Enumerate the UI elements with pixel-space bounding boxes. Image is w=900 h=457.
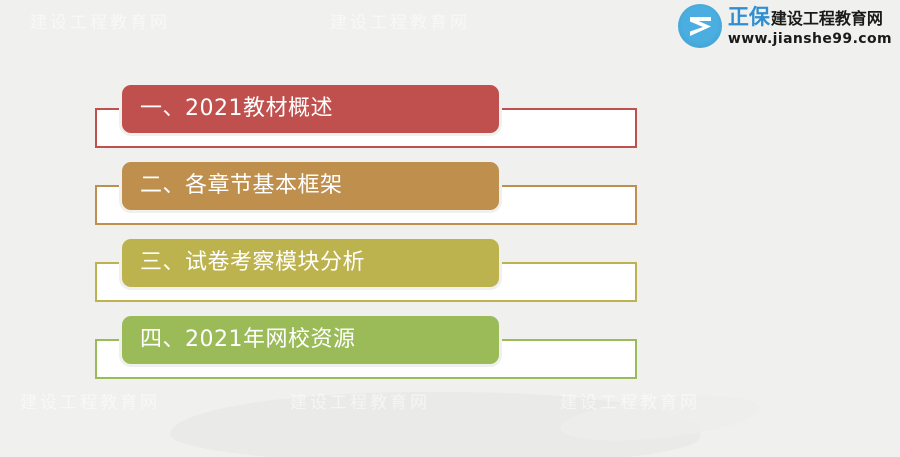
- slide-canvas: 建设工程教育网 建设工程教育网 建设工程教育网 建设工程教育网 建设工程教育网 …: [0, 0, 900, 457]
- agenda-fill-bar[interactable]: 四、2021年网校资源: [122, 316, 499, 364]
- agenda-item-label: 四、2021年网校资源: [122, 329, 356, 351]
- agenda-fill-bar[interactable]: 三、试卷考察模块分析: [122, 239, 499, 287]
- agenda-item[interactable]: 四、2021年网校资源: [0, 311, 900, 389]
- agenda-item[interactable]: 三、试卷考察模块分析: [0, 234, 900, 312]
- agenda-item-label: 二、各章节基本框架: [122, 175, 343, 197]
- agenda-fill-bar[interactable]: 二、各章节基本框架: [122, 162, 499, 210]
- agenda-fill-bar[interactable]: 一、2021教材概述: [122, 85, 499, 133]
- agenda-list: 一、2021教材概述 二、各章节基本框架 三、试卷考察模块分析 四、2021年网…: [0, 0, 900, 457]
- agenda-item-label: 一、2021教材概述: [122, 98, 333, 120]
- agenda-item[interactable]: 二、各章节基本框架: [0, 157, 900, 235]
- agenda-item-label: 三、试卷考察模块分析: [122, 252, 365, 274]
- agenda-item[interactable]: 一、2021教材概述: [0, 80, 900, 158]
